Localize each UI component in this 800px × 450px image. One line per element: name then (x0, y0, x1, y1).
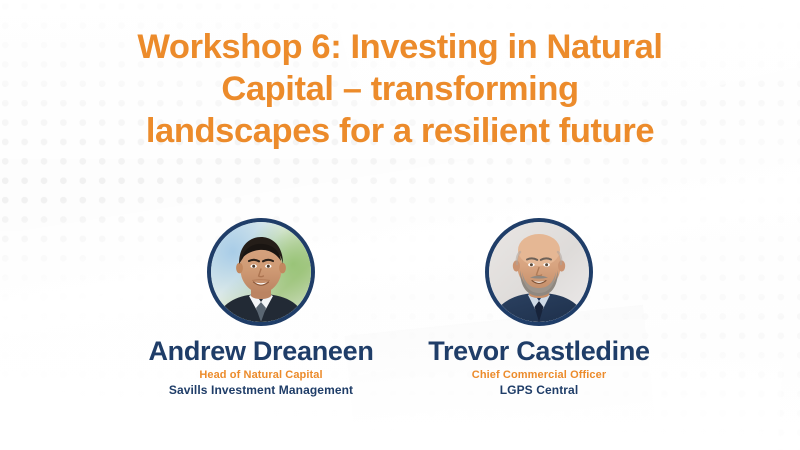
headshot-image (211, 222, 311, 322)
speaker-organization: Savills Investment Management (169, 383, 353, 397)
speaker-role: Chief Commercial Officer (472, 369, 606, 382)
speaker-name: Trevor Castledine (428, 336, 650, 366)
speaker-role: Head of Natural Capital (199, 369, 322, 382)
speaker-card: Andrew Dreaneen Head of Natural Capital … (122, 218, 400, 397)
headshot-image (489, 222, 589, 322)
speaker-list: Andrew Dreaneen Head of Natural Capital … (0, 218, 800, 397)
speaker-name: Andrew Dreaneen (148, 336, 373, 366)
headshot-andrew-dreaneen-graphic (211, 222, 311, 322)
speaker-card: Trevor Castledine Chief Commercial Offic… (400, 218, 678, 397)
speaker-organization: LGPS Central (500, 383, 579, 397)
avatar (207, 218, 315, 326)
slide-title: Workshop 6: Investing in Natural Capital… (60, 26, 740, 152)
avatar (485, 218, 593, 326)
presentation-slide: Workshop 6: Investing in Natural Capital… (0, 0, 800, 450)
headshot-trevor-castledine-graphic (489, 222, 589, 322)
